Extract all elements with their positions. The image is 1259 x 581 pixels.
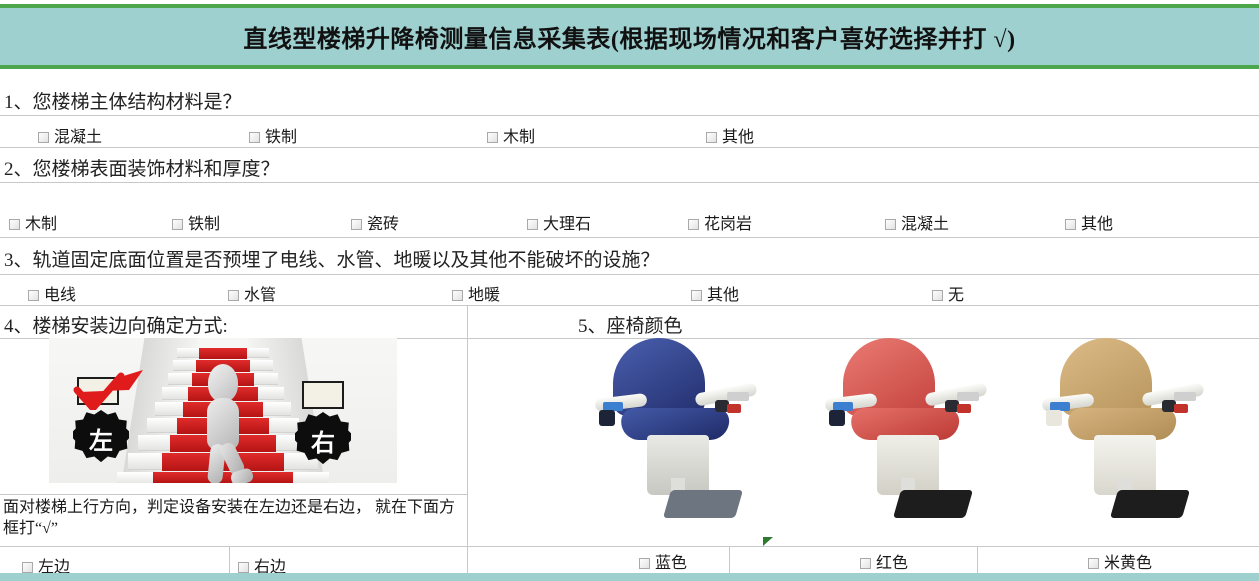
question-3-text: 3、轨道固定底面位置是否预埋了电线、水管、地暖以及其他不能破坏的设施？ — [4, 245, 660, 272]
person-figure-icon — [193, 346, 253, 483]
figure-head — [208, 364, 238, 402]
q5-option-divider — [729, 547, 730, 574]
option-q1-0[interactable]: 混凝土 — [38, 123, 102, 147]
chair-image-beige — [1022, 330, 1217, 545]
option-q2-4[interactable]: 花岗岩 — [688, 210, 752, 234]
checkbox-icon[interactable] — [28, 290, 39, 301]
chair-accent-red — [727, 404, 741, 413]
option-q3-3[interactable]: 其他 — [691, 281, 739, 305]
question-4-text: 4、楼梯安装边向确定方式: — [4, 311, 228, 338]
option-q1-1[interactable]: 铁制 — [249, 123, 297, 147]
checkbox-icon[interactable] — [885, 219, 896, 230]
question-1-text: 1、您楼梯主体结构材料是？ — [4, 87, 242, 114]
q4-options-divider — [0, 546, 467, 547]
form-title-bar: 直线型楼梯升降椅测量信息采集表(根据现场情况和客户喜好选择并打 √) — [0, 4, 1259, 69]
checkbox-icon[interactable] — [452, 290, 463, 301]
checkbox-icon[interactable] — [688, 219, 699, 230]
panel-divider — [467, 305, 468, 581]
right-side-tickbox[interactable] — [302, 381, 344, 409]
option-q1-3[interactable]: 其他 — [706, 123, 754, 147]
stairs-direction-illustration: 左 右 — [49, 338, 397, 483]
checkbox-icon[interactable] — [691, 290, 702, 301]
option-q2-2[interactable]: 瓷砖 — [351, 210, 399, 234]
option-q2-0[interactable]: 木制 — [9, 210, 57, 234]
question-1-options-row: 混凝土 铁制 木制 其他 — [0, 116, 1259, 148]
chair-image-blue — [575, 330, 770, 545]
question-3-header-row: 3、轨道固定底面位置是否预埋了电线、水管、地暖以及其他不能破坏的设施？ — [0, 238, 1259, 275]
option-q5-blue[interactable]: 蓝色 — [639, 549, 687, 573]
checkbox-icon[interactable] — [249, 132, 260, 143]
chair-bracket-left — [829, 410, 845, 426]
checkbox-icon[interactable] — [932, 290, 943, 301]
question-2-options-row: 木制 铁制 瓷砖 大理石 花岗岩 混凝土 其他 — [0, 183, 1259, 238]
option-q3-2[interactable]: 地暖 — [452, 281, 500, 305]
option-q5-red[interactable]: 红色 — [860, 549, 908, 573]
stairlift-chair-illustration — [805, 330, 1000, 545]
checkbox-icon[interactable] — [487, 132, 498, 143]
option-q5-beige[interactable]: 米黄色 — [1088, 549, 1152, 573]
chair-footrest — [893, 490, 973, 518]
stairlift-chair-illustration — [1022, 330, 1217, 545]
chair-bracket-left — [599, 410, 615, 426]
checkbox-icon[interactable] — [1065, 219, 1076, 230]
chair-bracket-left — [1046, 410, 1062, 426]
checkbox-icon[interactable] — [1088, 558, 1099, 569]
option-q2-1[interactable]: 铁制 — [172, 210, 220, 234]
checkbox-icon[interactable] — [860, 558, 871, 569]
checkbox-icon[interactable] — [706, 132, 717, 143]
option-q3-4[interactable]: 无 — [932, 281, 964, 305]
chair-accent-red — [957, 404, 971, 413]
checkbox-icon[interactable] — [351, 219, 362, 230]
question-1-header-row: 1、您楼梯主体结构材料是？ — [0, 81, 1259, 116]
note-top-divider — [0, 494, 467, 495]
stairlift-chair-illustration — [575, 330, 770, 545]
question-2-header-row: 2、您楼梯表面装饰材料和厚度？ — [0, 148, 1259, 183]
chair-control-pad-right — [1174, 392, 1196, 401]
chair-accent-red — [1174, 404, 1188, 413]
option-q2-3[interactable]: 大理石 — [527, 210, 591, 234]
checkbox-icon[interactable] — [9, 219, 20, 230]
checkbox-icon[interactable] — [228, 290, 239, 301]
q4-instruction-note: 面对楼梯上行方向，判定设备安装在左边还是右边， 就在下面方框打“√” — [3, 497, 458, 539]
q5-options-divider — [468, 546, 1259, 547]
q4-option-divider — [229, 547, 230, 574]
red-check-arrow-icon — [71, 368, 149, 410]
q5-option-divider — [977, 547, 978, 574]
checkbox-icon[interactable] — [527, 219, 538, 230]
checkbox-icon[interactable] — [238, 562, 249, 573]
option-q2-6[interactable]: 其他 — [1065, 210, 1113, 234]
option-q1-2[interactable]: 木制 — [487, 123, 535, 147]
checkbox-icon[interactable] — [172, 219, 183, 230]
chair-control-pad-right — [957, 392, 979, 401]
figure-body — [207, 398, 239, 450]
chair-footrest — [1110, 490, 1190, 518]
checkbox-icon[interactable] — [38, 132, 49, 143]
chair-footrest — [663, 490, 743, 518]
chair-image-red — [805, 330, 1000, 545]
option-q3-0[interactable]: 电线 — [28, 281, 76, 305]
checkbox-icon[interactable] — [639, 558, 650, 569]
checkbox-icon[interactable] — [22, 562, 33, 573]
option-q3-1[interactable]: 水管 — [228, 281, 276, 305]
page-title: 直线型楼梯升降椅测量信息采集表(根据现场情况和客户喜好选择并打 √) — [243, 19, 1015, 54]
question-2-text: 2、您楼梯表面装饰材料和厚度？ — [4, 154, 280, 181]
option-q2-5[interactable]: 混凝土 — [885, 210, 949, 234]
bottom-accent-bar — [0, 573, 1259, 581]
measurement-form-sheet: 直线型楼梯升降椅测量信息采集表(根据现场情况和客户喜好选择并打 √) 金来机械 … — [0, 0, 1259, 581]
chair-control-pad-right — [727, 392, 749, 401]
question-3-options-row: 电线 水管 地暖 其他 无 — [0, 275, 1259, 306]
